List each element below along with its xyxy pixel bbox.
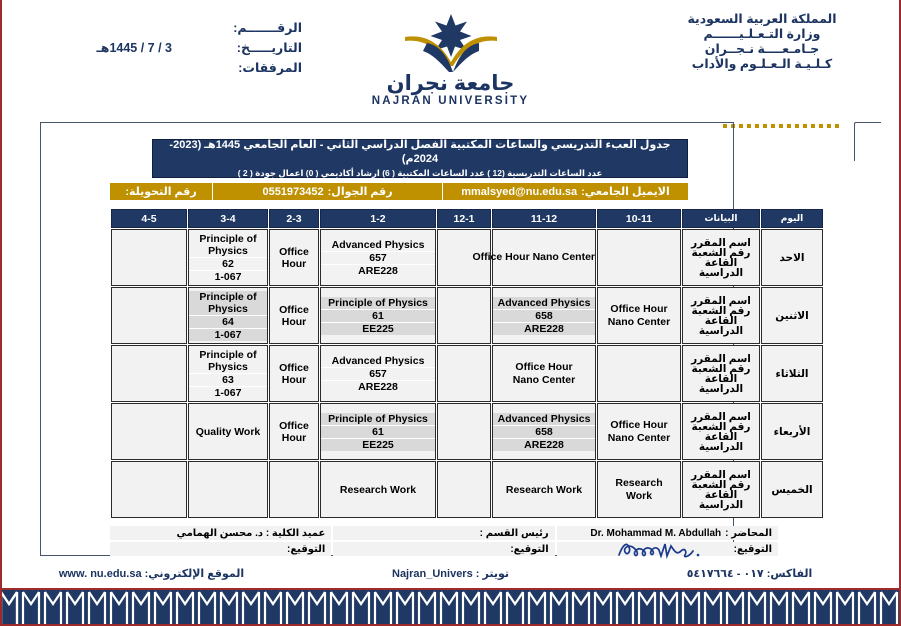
slot-11-12: Advanced Physics 658 ARE228 — [492, 403, 596, 460]
dean-sign-label: التوقيع: — [287, 544, 325, 555]
schedule-table: اليوم البيانات 10-11 11-12 12-1 1-2 2-3 … — [110, 208, 824, 519]
course-name: Principle of Physics — [189, 233, 267, 258]
lecturer-signature: المحاضر : Dr. Mohammad M. Abdullah التوق… — [557, 526, 778, 556]
meta-line-2: القاعة الدراسية — [683, 490, 759, 510]
extension-cell: رقم التحويلة: — [110, 183, 212, 200]
field-date-label: التاريـــــخ: — [172, 38, 302, 58]
kingdom-line-1: وزارة التـعـلـيــــــم — [647, 27, 877, 42]
footer-twitter: تويتر : Najran_Univers — [301, 567, 600, 580]
corner-bracket-decoration — [854, 122, 881, 161]
field-attachments: المرفقات: — [2, 58, 302, 78]
meta-line-2: القاعة الدراسية — [683, 374, 759, 394]
course-name: Principle of Physics — [321, 297, 435, 310]
meta-line-1: رقم الشعبة — [683, 248, 759, 258]
col-11-12: 11-12 — [492, 209, 596, 228]
course-room: 1-067 — [189, 271, 267, 283]
fax-label: الفاكس: — [767, 568, 813, 580]
course-stack: Advanced Physics 657 ARE228 — [321, 239, 435, 277]
lecturer-sign-label: التوقيع: — [734, 544, 772, 555]
contact-strip: الايميل الجامعي: mmalsyed@nu.edu.sa رقم … — [110, 183, 688, 200]
email-value[interactable]: mmalsyed@nu.edu.sa — [461, 186, 577, 198]
course-stack: Principle of Physics 62 1-067 — [189, 233, 267, 283]
meta-cell: اسم المقرر رقم الشعبة القاعة الدراسية — [682, 345, 760, 402]
course-section: 657 — [321, 252, 435, 265]
meta-line-1: رقم الشعبة — [683, 422, 759, 432]
meta-line-0: اسم المقرر — [683, 296, 759, 306]
slot-4-5 — [111, 403, 187, 460]
logo-english-text: NAJRAN UNIVERSITY — [366, 95, 536, 108]
office-hour-3: Office Hour — [270, 420, 318, 444]
schedule-subtitle: عدد الساعات التدريسية (12 ) عدد الساعات … — [153, 167, 687, 179]
col-3-4: 3-4 — [188, 209, 268, 228]
meta-line-1: رقم الشعبة — [683, 306, 759, 316]
meta-line-0: اسم المقرر — [683, 412, 759, 422]
slot-4-5 — [111, 229, 187, 286]
course-room: 1-067 — [189, 329, 267, 341]
slot-11-12: Research Work — [492, 461, 596, 518]
dean-sign-line: التوقيع: — [110, 542, 331, 556]
table-row: الاحد اسم المقرر رقم الشعبة القاعة الدرا… — [111, 229, 823, 286]
day-cell: الخميس — [761, 461, 823, 518]
mobile-value: 0551973452 — [262, 186, 323, 198]
najran-university-logo: جامعة نجران NAJRAN UNIVERSITY — [366, 10, 536, 108]
course-name: Advanced Physics — [493, 297, 595, 310]
col-12-1: 12-1 — [437, 209, 491, 228]
logo-mark-icon — [391, 10, 511, 72]
website-label: الموقع الإلكتروني: — [145, 568, 245, 580]
research-work-a: Research Work — [598, 477, 680, 503]
meta-line-2: القاعة الدراسية — [683, 258, 759, 278]
head-label: رئيس القسم : — [480, 528, 549, 539]
office-hour-nano-3: Office Hour Nano Center — [598, 419, 680, 445]
field-date-value: 3 / 7 / 1445هـ — [96, 38, 172, 58]
office-hour-1: Office Hour — [270, 304, 318, 328]
email-label: الايميل الجامعي: — [581, 185, 670, 198]
table-header-row: اليوم البيانات 10-11 11-12 12-1 1-2 2-3 … — [111, 209, 823, 228]
slot-2-3: Office Hour — [269, 287, 319, 344]
col-data: البيانات — [682, 209, 760, 228]
logo-arabic-text: جامعة نجران — [366, 73, 536, 95]
footer-fax: الفاكس: ٠١٧ - ٥٤١٧٦٦٤ — [600, 567, 899, 580]
day-cell: الاثنين — [761, 287, 823, 344]
day-cell: الاحد — [761, 229, 823, 286]
slot-12-1-highlight — [437, 461, 491, 518]
office-hour-0: Office Hour — [270, 246, 318, 270]
course-room: ARE228 — [493, 439, 595, 451]
head-sign-label: التوقيع: — [510, 544, 548, 555]
chevron-pattern-icon — [2, 590, 899, 626]
kingdom-line-0: المملكة العربية السعودية — [647, 12, 877, 27]
slot-3-4: Principle of Physics 63 1-067 — [188, 345, 268, 402]
table-row: الاثنين اسم المقرر رقم الشعبة القاعة الد… — [111, 287, 823, 344]
course-room: 1-067 — [189, 387, 267, 399]
course-name: Principle of Physics — [189, 291, 267, 316]
research-work-c: Research Work — [321, 484, 435, 496]
course-room: ARE228 — [493, 323, 595, 335]
course-room: ARE228 — [321, 381, 435, 393]
slot-2-3 — [269, 461, 319, 518]
field-number: الرقـــــــم: — [2, 18, 302, 38]
research-work-b: Research Work — [493, 484, 595, 496]
document-footer: الفاكس: ٠١٧ - ٥٤١٧٦٦٤ تويتر : Najran_Uni… — [2, 563, 899, 583]
slot-3-4 — [188, 461, 268, 518]
fax-value: ٠١٧ - ٥٤١٧٦٦٤ — [687, 568, 764, 580]
course-section: 61 — [321, 426, 435, 439]
col-day: اليوم — [761, 209, 823, 228]
schedule-title-banner: جدول العبء التدريسي والساعات المكتبية ال… — [152, 139, 688, 178]
lecturer-name: Dr. Mohammad M. Abdullah — [590, 528, 721, 539]
course-name: Advanced Physics — [321, 355, 435, 368]
website-value[interactable]: www. nu.edu.sa — [59, 568, 142, 580]
day-cell: الثلاثاء — [761, 345, 823, 402]
course-name: Principle of Physics — [321, 413, 435, 426]
slot-4-5 — [111, 461, 187, 518]
meta-line-2: القاعة الدراسية — [683, 316, 759, 336]
slot-2-3: Office Hour — [269, 403, 319, 460]
kingdom-header-block: المملكة العربية السعودية وزارة التـعـلـي… — [647, 12, 877, 72]
dean-line: عميد الكلية : د. محسن الهمامي — [110, 526, 331, 540]
course-room: ARE228 — [321, 265, 435, 277]
dean-signature: عميد الكلية : د. محسن الهمامي التوقيع: — [110, 526, 331, 556]
slot-4-5 — [111, 345, 187, 402]
col-4-5: 4-5 — [111, 209, 187, 228]
course-room: EE225 — [321, 323, 435, 335]
head-sign-line: التوقيع: — [333, 542, 554, 556]
field-attachments-label: المرفقات: — [172, 58, 302, 78]
meta-cell: اسم المقرر رقم الشعبة القاعة الدراسية — [682, 229, 760, 286]
course-stack: Advanced Physics 658 ARE228 — [493, 297, 595, 335]
course-stack: Principle of Physics 63 1-067 — [189, 349, 267, 399]
lecturer-sign-line: التوقيع: — [557, 542, 778, 556]
field-number-label: الرقـــــــم: — [172, 18, 302, 38]
slot-1-2: Advanced Physics 657 ARE228 — [320, 345, 436, 402]
slot-2-3: Office Hour — [269, 345, 319, 402]
office-hour-nano-1: Office Hour Nano Center — [598, 303, 680, 329]
slot-1-2: Research Work — [320, 461, 436, 518]
lecturer-label: المحاضر : — [725, 528, 772, 539]
slot-3-4: Principle of Physics 62 1-067 — [188, 229, 268, 286]
slot-10-11: Research Work — [597, 461, 681, 518]
slot-1-2: Advanced Physics 657 ARE228 — [320, 229, 436, 286]
reference-fields-block: الرقـــــــم: التاريـــــخ: 3 / 7 / 1445… — [2, 18, 302, 78]
slot-3-4: Principle of Physics 64 1-067 — [188, 287, 268, 344]
slot-12-1-highlight — [437, 403, 491, 460]
slot-1-2: Principle of Physics 61 EE225 — [320, 287, 436, 344]
course-stack: Principle of Physics 61 EE225 — [321, 413, 435, 451]
day-cell: الأربعاء — [761, 403, 823, 460]
course-section: 658 — [493, 310, 595, 323]
meta-line-0: اسم المقرر — [683, 354, 759, 364]
col-10-11: 10-11 — [597, 209, 681, 228]
slot-12-1-highlight — [437, 287, 491, 344]
course-section: 64 — [189, 316, 267, 329]
mobile-cell: رقم الجوال: 0551973452 — [212, 183, 442, 200]
schedule-title: جدول العبء التدريسي والساعات المكتبية ال… — [153, 138, 687, 166]
slot-11-12: Advanced Physics 658 ARE228 — [492, 287, 596, 344]
slot-2-3: Office Hour — [269, 229, 319, 286]
head-of-department-signature: رئيس القسم : التوقيع: — [333, 526, 554, 556]
slot-3-4: Quality Work — [188, 403, 268, 460]
meta-cell: اسم المقرر رقم الشعبة القاعة الدراسية — [682, 403, 760, 460]
table-row: الخميس اسم المقرر رقم الشعبة القاعة الدر… — [111, 461, 823, 518]
twitter-value[interactable]: Najran_Univers — [392, 568, 473, 580]
handwritten-signature-icon — [615, 538, 707, 560]
table-row: الثلاثاء اسم المقرر رقم الشعبة القاعة ال… — [111, 345, 823, 402]
course-stack: Advanced Physics 658 ARE228 — [493, 413, 595, 451]
course-stack: Advanced Physics 657 ARE228 — [321, 355, 435, 393]
bottom-decorative-band — [2, 588, 899, 626]
slot-11-12: Office Hour Nano Center — [492, 229, 596, 286]
extension-label: رقم التحويلة: — [125, 185, 196, 198]
slot-10-11: Office Hour Nano Center — [597, 287, 681, 344]
table-row: الأربعاء اسم المقرر رقم الشعبة القاعة ال… — [111, 403, 823, 460]
course-stack: Principle of Physics 61 EE225 — [321, 297, 435, 335]
meta-cell: اسم المقرر رقم الشعبة القاعة الدراسية — [682, 287, 760, 344]
office-hour-2: Office Hour — [270, 362, 318, 386]
office-hour-nano-2: Office Hour Nano Center — [493, 361, 595, 387]
course-name: Advanced Physics — [321, 239, 435, 252]
course-name: Advanced Physics — [493, 413, 595, 426]
footer-website: الموقع الإلكتروني: www. nu.edu.sa — [2, 567, 301, 580]
meta-line-0: اسم المقرر — [683, 470, 759, 480]
meta-cell: اسم المقرر رقم الشعبة القاعة الدراسية — [682, 461, 760, 518]
slot-4-5 — [111, 287, 187, 344]
meta-line-2: القاعة الدراسية — [683, 432, 759, 452]
twitter-label: تويتر : — [476, 568, 509, 580]
course-stack: Principle of Physics 64 1-067 — [189, 291, 267, 341]
course-section: 62 — [189, 258, 267, 271]
document-header: المملكة العربية السعودية وزارة التـعـلـي… — [2, 0, 899, 122]
course-section: 657 — [321, 368, 435, 381]
head-line: رئيس القسم : — [333, 526, 554, 540]
slot-10-11 — [597, 345, 681, 402]
course-room: EE225 — [321, 439, 435, 451]
slot-12-1-highlight — [437, 345, 491, 402]
email-cell: الايميل الجامعي: mmalsyed@nu.edu.sa — [442, 183, 688, 200]
document-page: المملكة العربية السعودية وزارة التـعـلـي… — [0, 0, 901, 626]
field-date: التاريـــــخ: 3 / 7 / 1445هـ — [2, 38, 302, 58]
kingdom-line-3: كـلـيـة الـعـلـوم والأداب — [647, 57, 877, 72]
office-hour-nano-0: Office Hour Nano Center — [493, 251, 595, 264]
course-name: Principle of Physics — [189, 349, 267, 374]
mobile-label: رقم الجوال: — [328, 185, 393, 198]
course-section: 61 — [321, 310, 435, 323]
col-1-2: 1-2 — [320, 209, 436, 228]
gold-dotted-rule — [723, 124, 839, 128]
slot-11-12: Office Hour Nano Center — [492, 345, 596, 402]
col-2-3: 2-3 — [269, 209, 319, 228]
dean-label: عميد الكلية : د. محسن الهمامي — [176, 528, 325, 539]
course-section: 63 — [189, 374, 267, 387]
meta-line-1: رقم الشعبة — [683, 480, 759, 490]
meta-line-1: رقم الشعبة — [683, 364, 759, 374]
signature-block: المحاضر : Dr. Mohammad M. Abdullah التوق… — [110, 526, 778, 556]
slot-10-11 — [597, 229, 681, 286]
slot-1-2: Principle of Physics 61 EE225 — [320, 403, 436, 460]
slot-10-11: Office Hour Nano Center — [597, 403, 681, 460]
kingdom-line-2: جـامـعــــة نـجــران — [647, 42, 877, 57]
meta-line-0: اسم المقرر — [683, 238, 759, 248]
course-section: 658 — [493, 426, 595, 439]
